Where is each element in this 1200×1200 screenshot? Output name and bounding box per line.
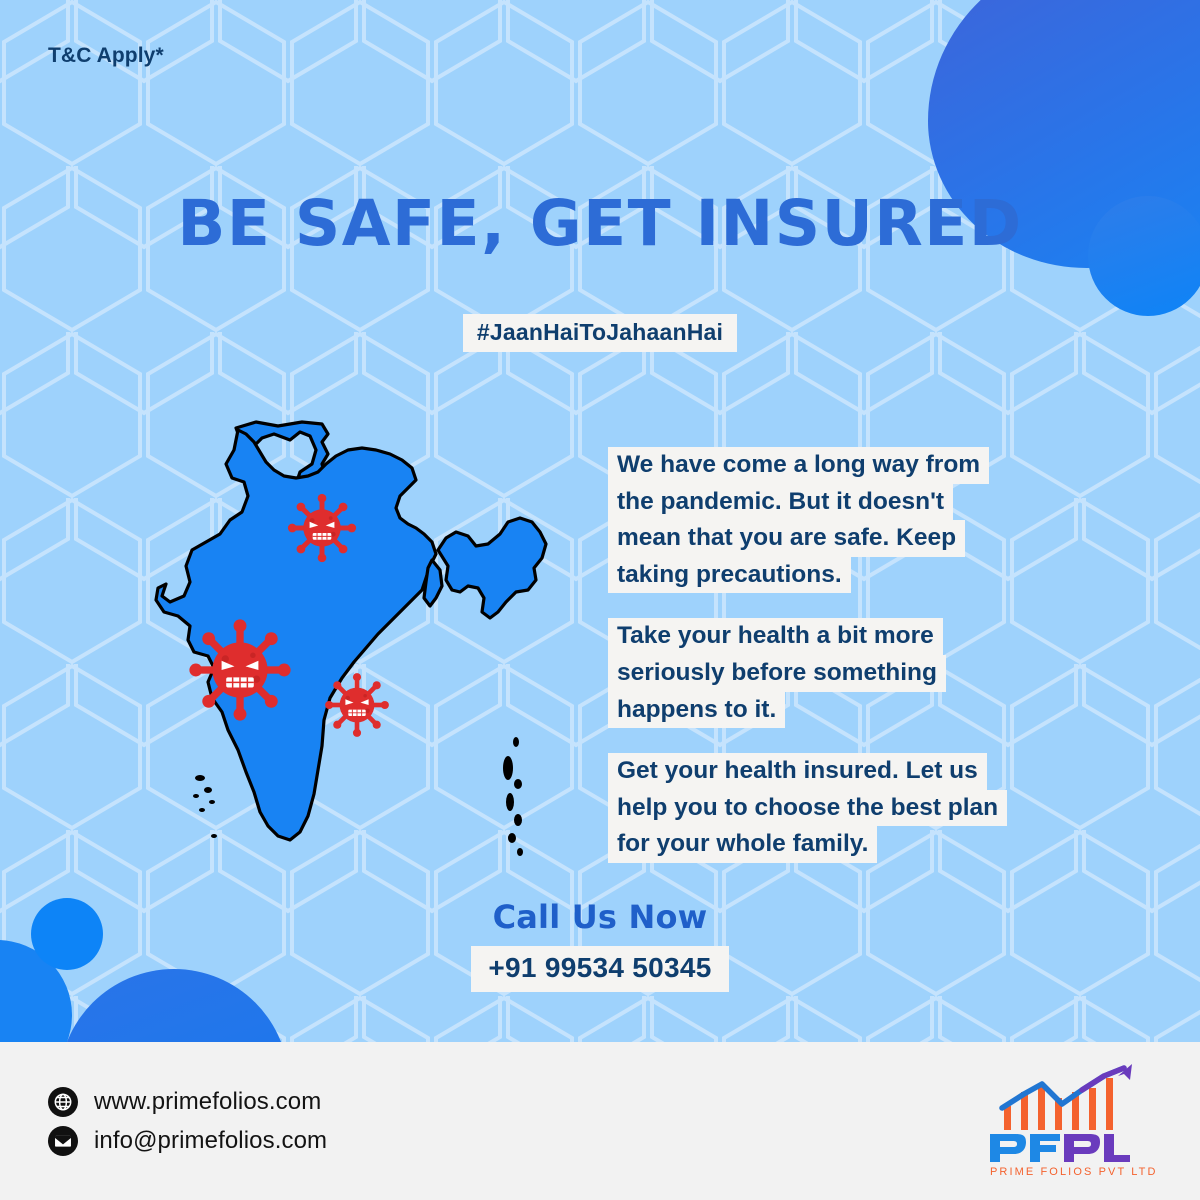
- poster-canvas: T&C Apply* BE SAFE, GET INSURED #JaanHai…: [0, 0, 1200, 1042]
- globe-icon: [48, 1087, 78, 1117]
- copy-line: the pandemic. But it doesn't: [608, 484, 953, 521]
- copy-line: happens to it.: [608, 692, 785, 729]
- india-map: [150, 420, 570, 880]
- company-logo: PRIME FOLIOS PVT LTD: [978, 1062, 1156, 1180]
- copy-line: We have come a long way from: [608, 447, 989, 484]
- insurance-poster: T&C Apply* BE SAFE, GET INSURED #JaanHai…: [0, 0, 1200, 1200]
- hashtag-container: #JaanHaiToJahaanHai: [0, 314, 1200, 352]
- copy-block: Get your health insured. Let us help you…: [608, 753, 1038, 863]
- contact-list: www.primefolios.com info@primefolios.com: [48, 1087, 327, 1156]
- contact-website[interactable]: www.primefolios.com: [48, 1087, 327, 1117]
- copy-container: We have come a long way from the pandemi…: [608, 447, 1038, 863]
- contact-email[interactable]: info@primefolios.com: [48, 1126, 327, 1156]
- email-text: info@primefolios.com: [94, 1127, 327, 1155]
- envelope-icon: [48, 1126, 78, 1156]
- copy-line: mean that you are safe. Keep: [608, 520, 965, 557]
- phone-number[interactable]: +91 99534 50345: [471, 946, 728, 992]
- page-title: BE SAFE, GET INSURED: [0, 190, 1200, 258]
- call-us-title: Call Us Now: [0, 898, 1200, 936]
- copy-line: Take your health a bit more: [608, 618, 943, 655]
- terms-note: T&C Apply*: [48, 44, 164, 68]
- phone-container: +91 99534 50345: [0, 946, 1200, 992]
- copy-line: seriously before something: [608, 655, 946, 692]
- copy-line: taking precautions.: [608, 557, 851, 594]
- virus-marker-southeast: [325, 673, 389, 737]
- footer: www.primefolios.com info@primefolios.com: [0, 1042, 1200, 1200]
- website-text: www.primefolios.com: [94, 1088, 321, 1116]
- logo-lettermark: [990, 1134, 1130, 1162]
- copy-block: We have come a long way from the pandemi…: [608, 447, 1038, 593]
- call-to-action: Call Us Now +91 99534 50345: [0, 898, 1200, 992]
- copy-line: for your whole family.: [608, 826, 877, 863]
- india-landmass: [156, 422, 546, 840]
- copy-line: help you to choose the best plan: [608, 790, 1007, 827]
- copy-block: Take your health a bit more seriously be…: [608, 618, 1038, 728]
- copy-line: Get your health insured. Let us: [608, 753, 987, 790]
- logo-tagline: PRIME FOLIOS PVT LTD: [990, 1166, 1156, 1178]
- virus-marker-west: [189, 619, 290, 720]
- hashtag-badge: #JaanHaiToJahaanHai: [463, 314, 737, 352]
- virus-marker-north: [288, 494, 356, 562]
